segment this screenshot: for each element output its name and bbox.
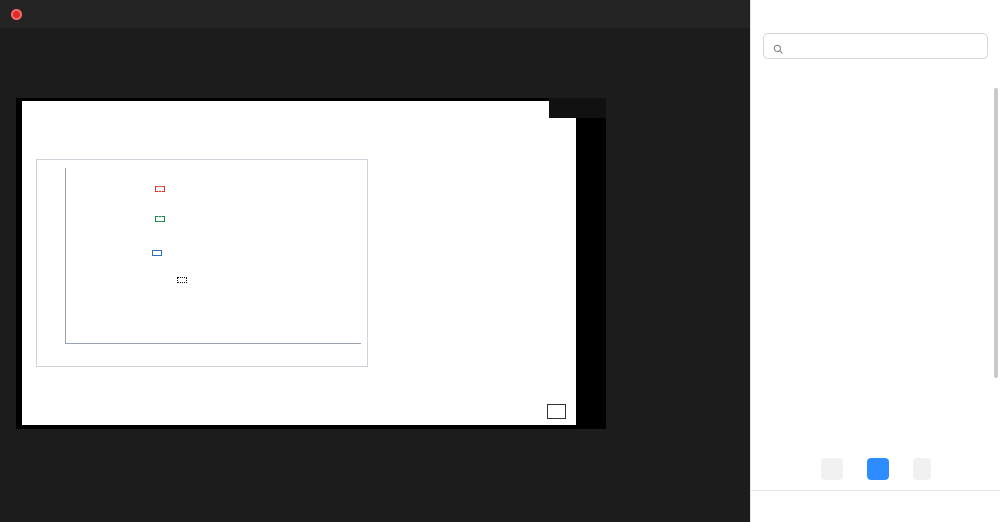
- chart-curves: [65, 168, 361, 344]
- presentation-slide: [22, 101, 576, 425]
- recording-bar: [0, 0, 750, 28]
- participants-header: [751, 0, 1000, 33]
- scrollbar-thumb[interactable]: [994, 88, 998, 378]
- participants-actions: [751, 452, 1000, 486]
- zoom-meeting-window: [0, 0, 1000, 522]
- results-chart: [36, 159, 368, 367]
- participants-list[interactable]: [751, 74, 1000, 444]
- chat-header[interactable]: [751, 491, 1000, 522]
- legend-c1: [177, 277, 187, 283]
- meeting-stage: [0, 0, 750, 522]
- invite-button[interactable]: [821, 458, 843, 480]
- slide-page-number: [547, 404, 566, 419]
- shared-screen-window: [16, 98, 606, 429]
- legend-c2: [155, 216, 165, 222]
- recording-dot-icon: [11, 9, 22, 20]
- participant-search[interactable]: [763, 33, 988, 59]
- legend-c3: [152, 250, 162, 256]
- more-options-button[interactable]: [913, 458, 931, 480]
- window-controls[interactable]: [549, 98, 606, 118]
- participants-panel: [750, 0, 1000, 522]
- chart-plot-area: [65, 168, 361, 344]
- participants-scrollbar[interactable]: [994, 82, 998, 434]
- video-filmstrip: [614, 70, 750, 460]
- mute-all-button[interactable]: [867, 458, 889, 480]
- legend-c4: [155, 186, 165, 192]
- search-input[interactable]: [789, 40, 978, 52]
- search-icon: [773, 41, 783, 51]
